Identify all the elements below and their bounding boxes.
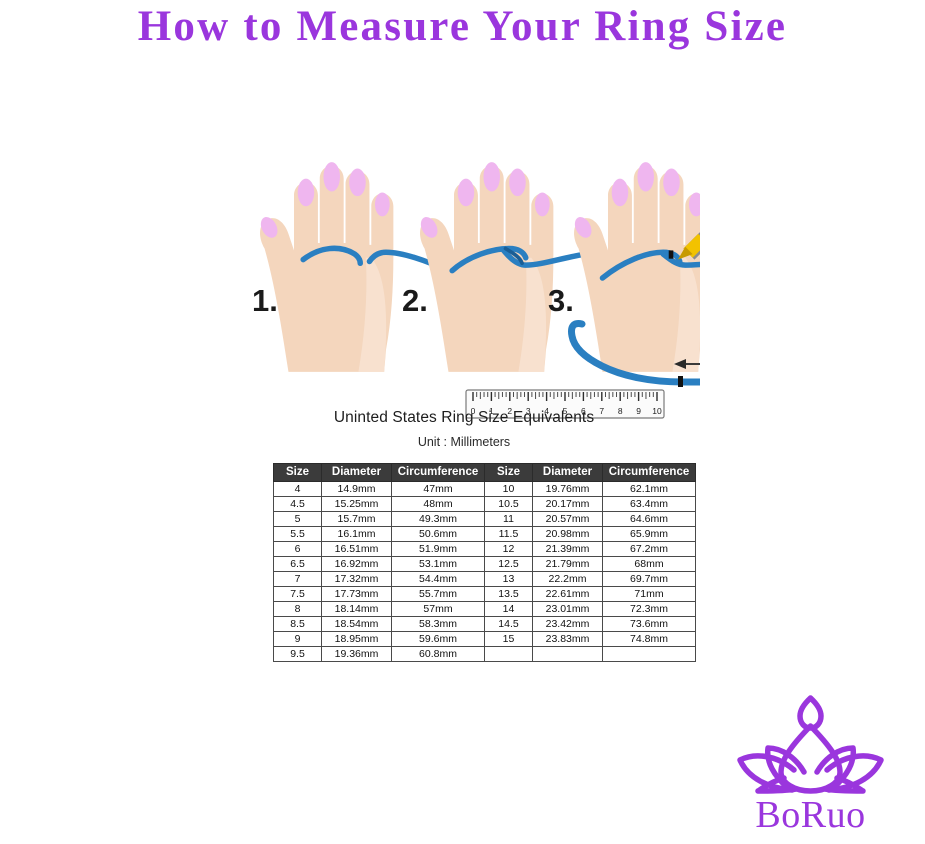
table-cell-r11-c2: 60.8mm	[392, 647, 485, 662]
table-cell-r7-c1: 17.73mm	[322, 587, 392, 602]
table-cell-r9-c1: 18.54mm	[322, 617, 392, 632]
table-cell-r8-c2: 57mm	[392, 602, 485, 617]
table-header-cell-5: Circumference	[603, 464, 696, 482]
table-cell-r6-c5: 69.7mm	[603, 572, 696, 587]
table-cell-r0-c3: 10	[485, 482, 533, 497]
table-cell-r3-c4: 20.98mm	[533, 527, 603, 542]
table-cell-r10-c4: 23.83mm	[533, 632, 603, 647]
table-row: 5.516.1mm50.6mm11.520.98mm65.9mm	[274, 527, 696, 542]
ruler-scale: 012345678910	[230, 100, 700, 420]
table-header-cell-4: Diameter	[533, 464, 603, 482]
table-cell-r3-c2: 50.6mm	[392, 527, 485, 542]
table-cell-r4-c5: 67.2mm	[603, 542, 696, 557]
table-header-cell-2: Circumference	[392, 464, 485, 482]
table-cell-r1-c4: 20.17mm	[533, 497, 603, 512]
ring-size-table-block: Uninted States Ring Size Equivalents Uni…	[273, 408, 655, 662]
table-cell-r3-c1: 16.1mm	[322, 527, 392, 542]
table-cell-r7-c4: 22.61mm	[533, 587, 603, 602]
table-cell-r2-c5: 64.6mm	[603, 512, 696, 527]
table-cell-r6-c0: 7	[274, 572, 322, 587]
table-title: Uninted States Ring Size Equivalents	[273, 408, 655, 428]
table-row: 818.14mm57mm1423.01mm72.3mm	[274, 602, 696, 617]
brand-wordmark: BoRuo	[718, 794, 903, 836]
table-cell-r3-c3: 11.5	[485, 527, 533, 542]
table-body: 414.9mm47mm1019.76mm62.1mm4.515.25mm48mm…	[274, 482, 696, 662]
table-cell-r8-c0: 8	[274, 602, 322, 617]
table-cell-r10-c2: 59.6mm	[392, 632, 485, 647]
step-label-3: 3.	[548, 285, 574, 316]
table-cell-r6-c4: 22.2mm	[533, 572, 603, 587]
table-header-cell-1: Diameter	[322, 464, 392, 482]
table-unit-label: Unit : Millimeters	[273, 434, 655, 450]
table-cell-r6-c3: 13	[485, 572, 533, 587]
table-cell-r0-c0: 4	[274, 482, 322, 497]
table-row: 515.7mm49.3mm1120.57mm64.6mm	[274, 512, 696, 527]
page-title: How to Measure Your Ring Size	[0, 2, 925, 52]
table-cell-r10-c5: 74.8mm	[603, 632, 696, 647]
table-cell-r11-c0: 9.5	[274, 647, 322, 662]
table-cell-r1-c1: 15.25mm	[322, 497, 392, 512]
table-cell-r11-c5	[603, 647, 696, 662]
table-cell-r4-c0: 6	[274, 542, 322, 557]
table-cell-r2-c0: 5	[274, 512, 322, 527]
table-cell-r9-c4: 23.42mm	[533, 617, 603, 632]
table-row: 8.518.54mm58.3mm14.523.42mm73.6mm	[274, 617, 696, 632]
table-cell-r7-c5: 71mm	[603, 587, 696, 602]
table-cell-r5-c5: 68mm	[603, 557, 696, 572]
table-header-cell-3: Size	[485, 464, 533, 482]
table-cell-r8-c3: 14	[485, 602, 533, 617]
table-row: 7.517.73mm55.7mm13.522.61mm71mm	[274, 587, 696, 602]
table-cell-r5-c2: 53.1mm	[392, 557, 485, 572]
table-cell-r5-c0: 6.5	[274, 557, 322, 572]
table-cell-r2-c1: 15.7mm	[322, 512, 392, 527]
table-cell-r10-c0: 9	[274, 632, 322, 647]
table-cell-r1-c2: 48mm	[392, 497, 485, 512]
table-cell-r3-c5: 65.9mm	[603, 527, 696, 542]
table-cell-r5-c4: 21.79mm	[533, 557, 603, 572]
step-label-2: 2.	[402, 285, 428, 316]
table-cell-r2-c3: 11	[485, 512, 533, 527]
table-cell-r1-c0: 4.5	[274, 497, 322, 512]
table-cell-r11-c1: 19.36mm	[322, 647, 392, 662]
table-cell-r0-c2: 47mm	[392, 482, 485, 497]
table-row: 4.515.25mm48mm10.520.17mm63.4mm	[274, 497, 696, 512]
table-cell-r8-c5: 72.3mm	[603, 602, 696, 617]
table-cell-r2-c4: 20.57mm	[533, 512, 603, 527]
table-row: 717.32mm54.4mm1322.2mm69.7mm	[274, 572, 696, 587]
table-cell-r10-c3: 15	[485, 632, 533, 647]
table-cell-r2-c2: 49.3mm	[392, 512, 485, 527]
table-cell-r5-c3: 12.5	[485, 557, 533, 572]
table-cell-r0-c1: 14.9mm	[322, 482, 392, 497]
table-row: 6.516.92mm53.1mm12.521.79mm68mm	[274, 557, 696, 572]
table-cell-r0-c5: 62.1mm	[603, 482, 696, 497]
table-cell-r7-c3: 13.5	[485, 587, 533, 602]
table-header-row: SizeDiameterCircumferenceSizeDiameterCir…	[274, 464, 696, 482]
table-cell-r4-c4: 21.39mm	[533, 542, 603, 557]
table-cell-r9-c5: 73.6mm	[603, 617, 696, 632]
table-row: 414.9mm47mm1019.76mm62.1mm	[274, 482, 696, 497]
ring-size-table: SizeDiameterCircumferenceSizeDiameterCir…	[273, 463, 696, 662]
table-cell-r6-c2: 54.4mm	[392, 572, 485, 587]
table-cell-r5-c1: 16.92mm	[322, 557, 392, 572]
table-cell-r4-c2: 51.9mm	[392, 542, 485, 557]
measurement-illustration: 52 012345678910 1. 2. 3.	[230, 100, 700, 420]
table-cell-r11-c3	[485, 647, 533, 662]
table-cell-r8-c4: 23.01mm	[533, 602, 603, 617]
table-cell-r1-c3: 10.5	[485, 497, 533, 512]
table-row: 616.51mm51.9mm1221.39mm67.2mm	[274, 542, 696, 557]
table-header-cell-0: Size	[274, 464, 322, 482]
table-cell-r8-c1: 18.14mm	[322, 602, 392, 617]
table-cell-r0-c4: 19.76mm	[533, 482, 603, 497]
table-cell-r4-c3: 12	[485, 542, 533, 557]
step-label-1: 1.	[252, 285, 278, 316]
table-cell-r7-c0: 7.5	[274, 587, 322, 602]
table-cell-r9-c2: 58.3mm	[392, 617, 485, 632]
table-cell-r7-c2: 55.7mm	[392, 587, 485, 602]
table-row: 9.519.36mm60.8mm	[274, 647, 696, 662]
table-cell-r11-c4	[533, 647, 603, 662]
lotus-icon	[718, 690, 903, 795]
table-cell-r3-c0: 5.5	[274, 527, 322, 542]
table-row: 918.95mm59.6mm1523.83mm74.8mm	[274, 632, 696, 647]
brand-logo: BoRuo	[718, 690, 903, 840]
table-cell-r4-c1: 16.51mm	[322, 542, 392, 557]
ruler-ticks	[473, 392, 657, 401]
table-cell-r10-c1: 18.95mm	[322, 632, 392, 647]
table-cell-r9-c3: 14.5	[485, 617, 533, 632]
table-cell-r1-c5: 63.4mm	[603, 497, 696, 512]
table-cell-r6-c1: 17.32mm	[322, 572, 392, 587]
table-cell-r9-c0: 8.5	[274, 617, 322, 632]
